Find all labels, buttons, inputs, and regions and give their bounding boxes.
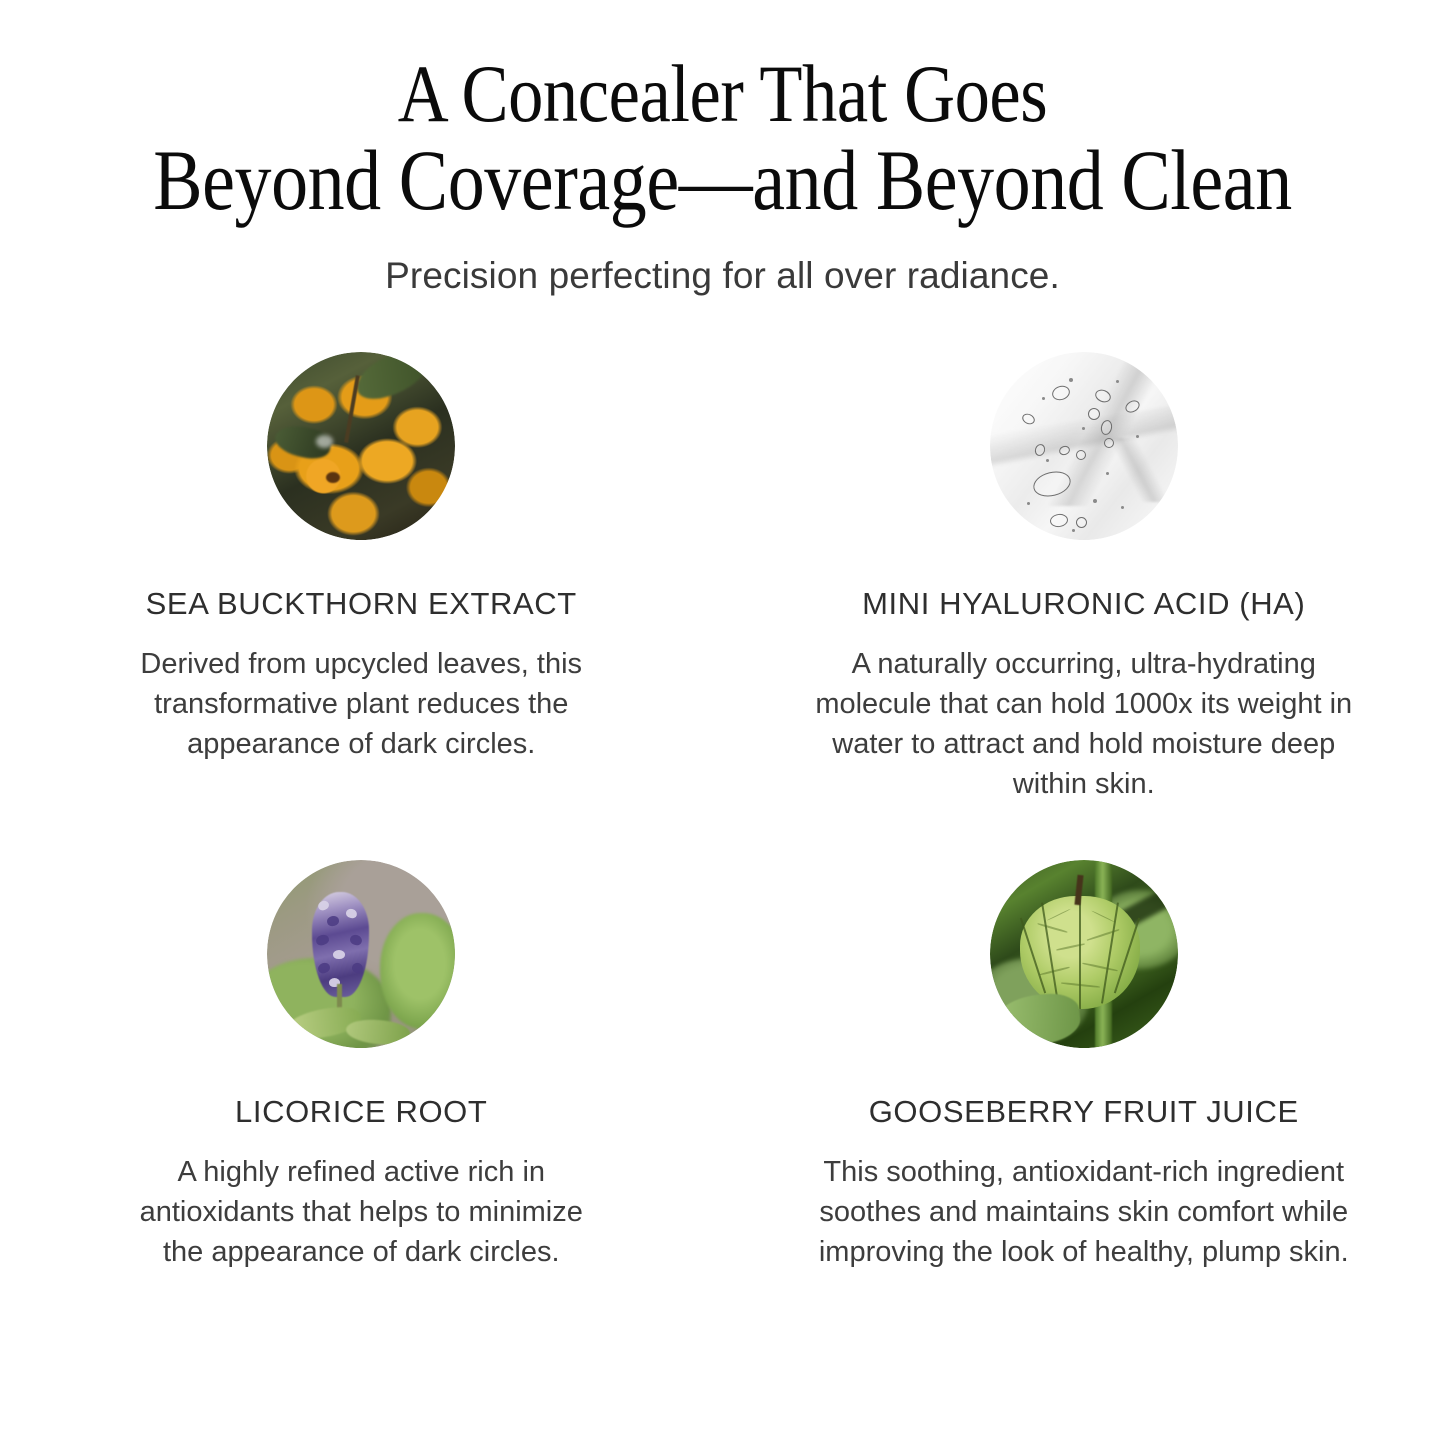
ingredient-description: This soothing, antioxidant-rich ingredie… [814,1152,1354,1272]
ingredient-title: LICORICE ROOT [235,1094,487,1130]
ingredient-title: GOOSEBERRY FRUIT JUICE [869,1094,1299,1130]
leaf-shape [349,352,433,406]
gel-speck [1121,506,1124,509]
gel-fold [1088,438,1178,502]
ingredient-benefits-infographic: A Concealer That Goes Beyond Coverage—an… [0,0,1445,1445]
husk-vein [1087,929,1120,941]
foliage-blur [380,913,455,1030]
hyaluronic-acid-gel-icon [990,352,1178,540]
ingredient-card-sea-buckthorn: SEA BUCKTHORN EXTRACT Derived from upcyc… [0,352,723,860]
header-block: A Concealer That Goes Beyond Coverage—an… [0,0,1445,297]
page-headline: A Concealer That Goes Beyond Coverage—an… [101,52,1344,225]
ingredient-card-licorice-root: LICORICE ROOT A highly refined active ri… [0,860,723,1368]
gooseberry-thumbnail [990,860,1178,1048]
ingredient-card-gooseberry: GOOSEBERRY FRUIT JUICE This soothing, an… [723,860,1445,1368]
ingredient-card-hyaluronic-acid: MINI HYALURONIC ACID (HA) A naturally oc… [723,352,1445,860]
gooseberry-fruit-icon [990,860,1178,1048]
headline-line-2: Beyond Coverage—and Beyond Clean [136,136,1310,225]
fruit-husk [1020,896,1140,1009]
berry-highlight [316,435,333,448]
licorice-root-flower-icon [267,860,455,1048]
licorice-root-thumbnail [267,860,455,1048]
gel-speck [1042,397,1045,400]
gel-speck [1072,529,1075,532]
floret [333,950,345,959]
gel-bubble [1020,412,1036,427]
ingredient-title: SEA BUCKTHORN EXTRACT [146,586,577,622]
hyaluronic-acid-thumbnail [990,352,1178,540]
gel-speck [1027,502,1030,505]
husk-vein [1039,966,1070,975]
berry-blossom-end [326,472,340,483]
gel-bubble [1076,517,1087,528]
gel-bubble [1076,450,1086,460]
ingredient-title: MINI HYALURONIC ACID (HA) [862,586,1305,622]
gel-speck [1116,380,1119,383]
ingredient-description: A highly refined active rich in antioxid… [126,1152,596,1272]
husk-vein [1083,962,1119,971]
gel-bubble [1088,408,1100,420]
gel-speck [1093,499,1097,503]
sea-buckthorn-thumbnail [267,352,455,540]
headline-line-1: A Concealer That Goes [136,52,1310,136]
husk-rib [1079,896,1082,1009]
ingredient-description: A naturally occurring, ultra-hydrating m… [814,644,1354,804]
husk-vein [1091,910,1115,923]
sea-buckthorn-berries-icon [267,352,455,540]
husk-vein [1047,908,1071,921]
ingredient-grid: SEA BUCKTHORN EXTRACT Derived from upcyc… [0,352,1445,1368]
ingredient-description: Derived from upcycled leaves, this trans… [126,644,596,764]
husk-vein [1037,923,1068,933]
stem-shape [344,375,360,442]
gel-bubble [1049,512,1069,527]
page-subheadline: Precision perfecting for all over radian… [0,255,1445,297]
